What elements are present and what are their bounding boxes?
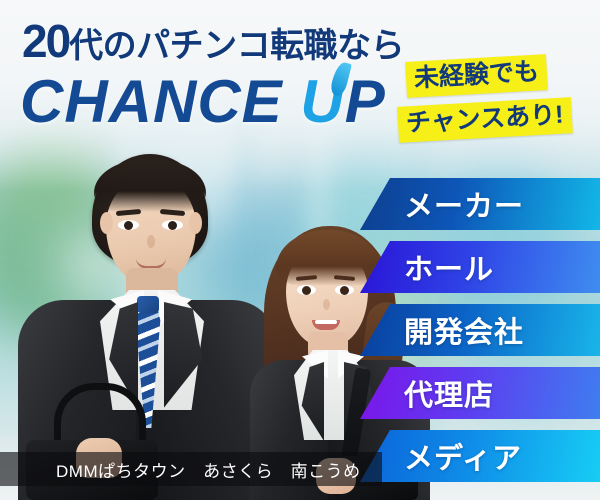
man-eye-right [162, 220, 183, 230]
category-label-media: メディア [404, 435, 522, 477]
man-ear-right [189, 212, 202, 234]
logo-chance-text: CHANCE [20, 68, 300, 135]
category-label-agency: 代理店 [404, 372, 494, 414]
man-ear-left [100, 212, 113, 234]
credit-text: DMMぱちタウン あさくら 南こうめ [56, 457, 361, 482]
logo-u-letter: U [300, 72, 344, 132]
category-label-hall: ホール [404, 246, 494, 288]
person-man [18, 150, 278, 500]
woman-nose [323, 299, 330, 310]
category-button-media[interactable]: メディア [360, 430, 600, 482]
advertisement-banner[interactable]: 20代のパチンコ転職なら CHANCE UP 未経験でも チャンスあり! メーカ… [0, 0, 600, 500]
man-fringe [94, 160, 206, 212]
badge-chance-available: チャンスあり! [397, 97, 572, 143]
brand-logo: CHANCE UP [20, 72, 386, 132]
category-label-developer: 開発会社 [404, 309, 524, 351]
headline-middle: 代のパチンコ転職 [69, 27, 337, 65]
promo-badges: 未経験でも チャンスあり! [398, 58, 598, 158]
category-button-developer[interactable]: 開発会社 [360, 304, 600, 356]
man-nose [147, 235, 155, 248]
badge-no-experience: 未経験でも [405, 54, 548, 98]
category-button-agency[interactable]: 代理店 [360, 367, 600, 419]
woman-eye-right [335, 285, 354, 295]
man-eye-left [118, 220, 139, 230]
woman-eye-left [297, 285, 316, 295]
headline: 20代のパチンコ転職なら [22, 18, 404, 64]
people-photo [0, 140, 420, 500]
logo-p-letter: P [345, 68, 386, 135]
category-button-list: メーカー ホール 開発会社 代理店 メディア [360, 178, 600, 493]
man-necktie-knot [137, 296, 159, 313]
category-button-maker[interactable]: メーカー [360, 178, 600, 230]
category-button-hall[interactable]: ホール [360, 241, 600, 293]
headline-tail: なら [337, 27, 404, 65]
headline-number: 20 [22, 15, 69, 67]
category-label-maker: メーカー [404, 183, 524, 225]
credit-bar: DMMぱちタウン あさくら 南こうめ [0, 452, 382, 486]
